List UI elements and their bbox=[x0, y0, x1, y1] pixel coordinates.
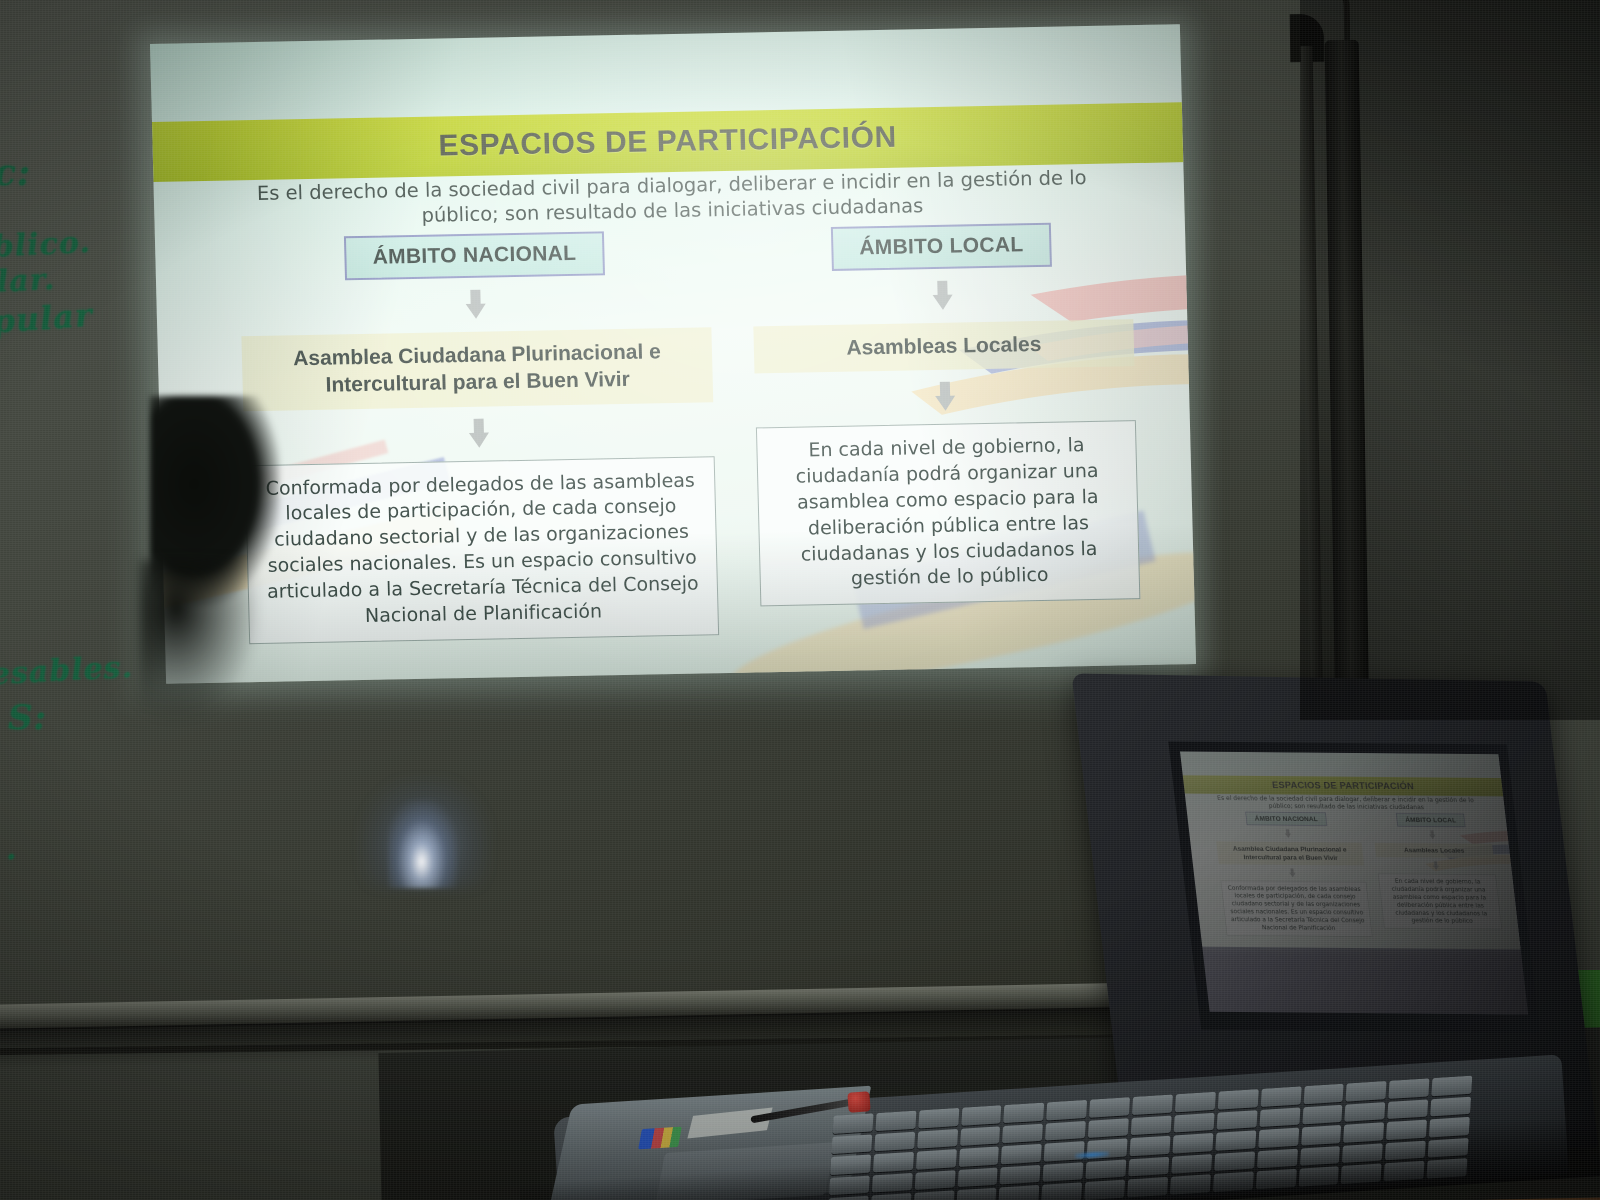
photo-scene: c: úblico. ular. opular resables. S: . E… bbox=[0, 0, 1600, 1200]
person-shoulder-shadow bbox=[140, 560, 260, 720]
